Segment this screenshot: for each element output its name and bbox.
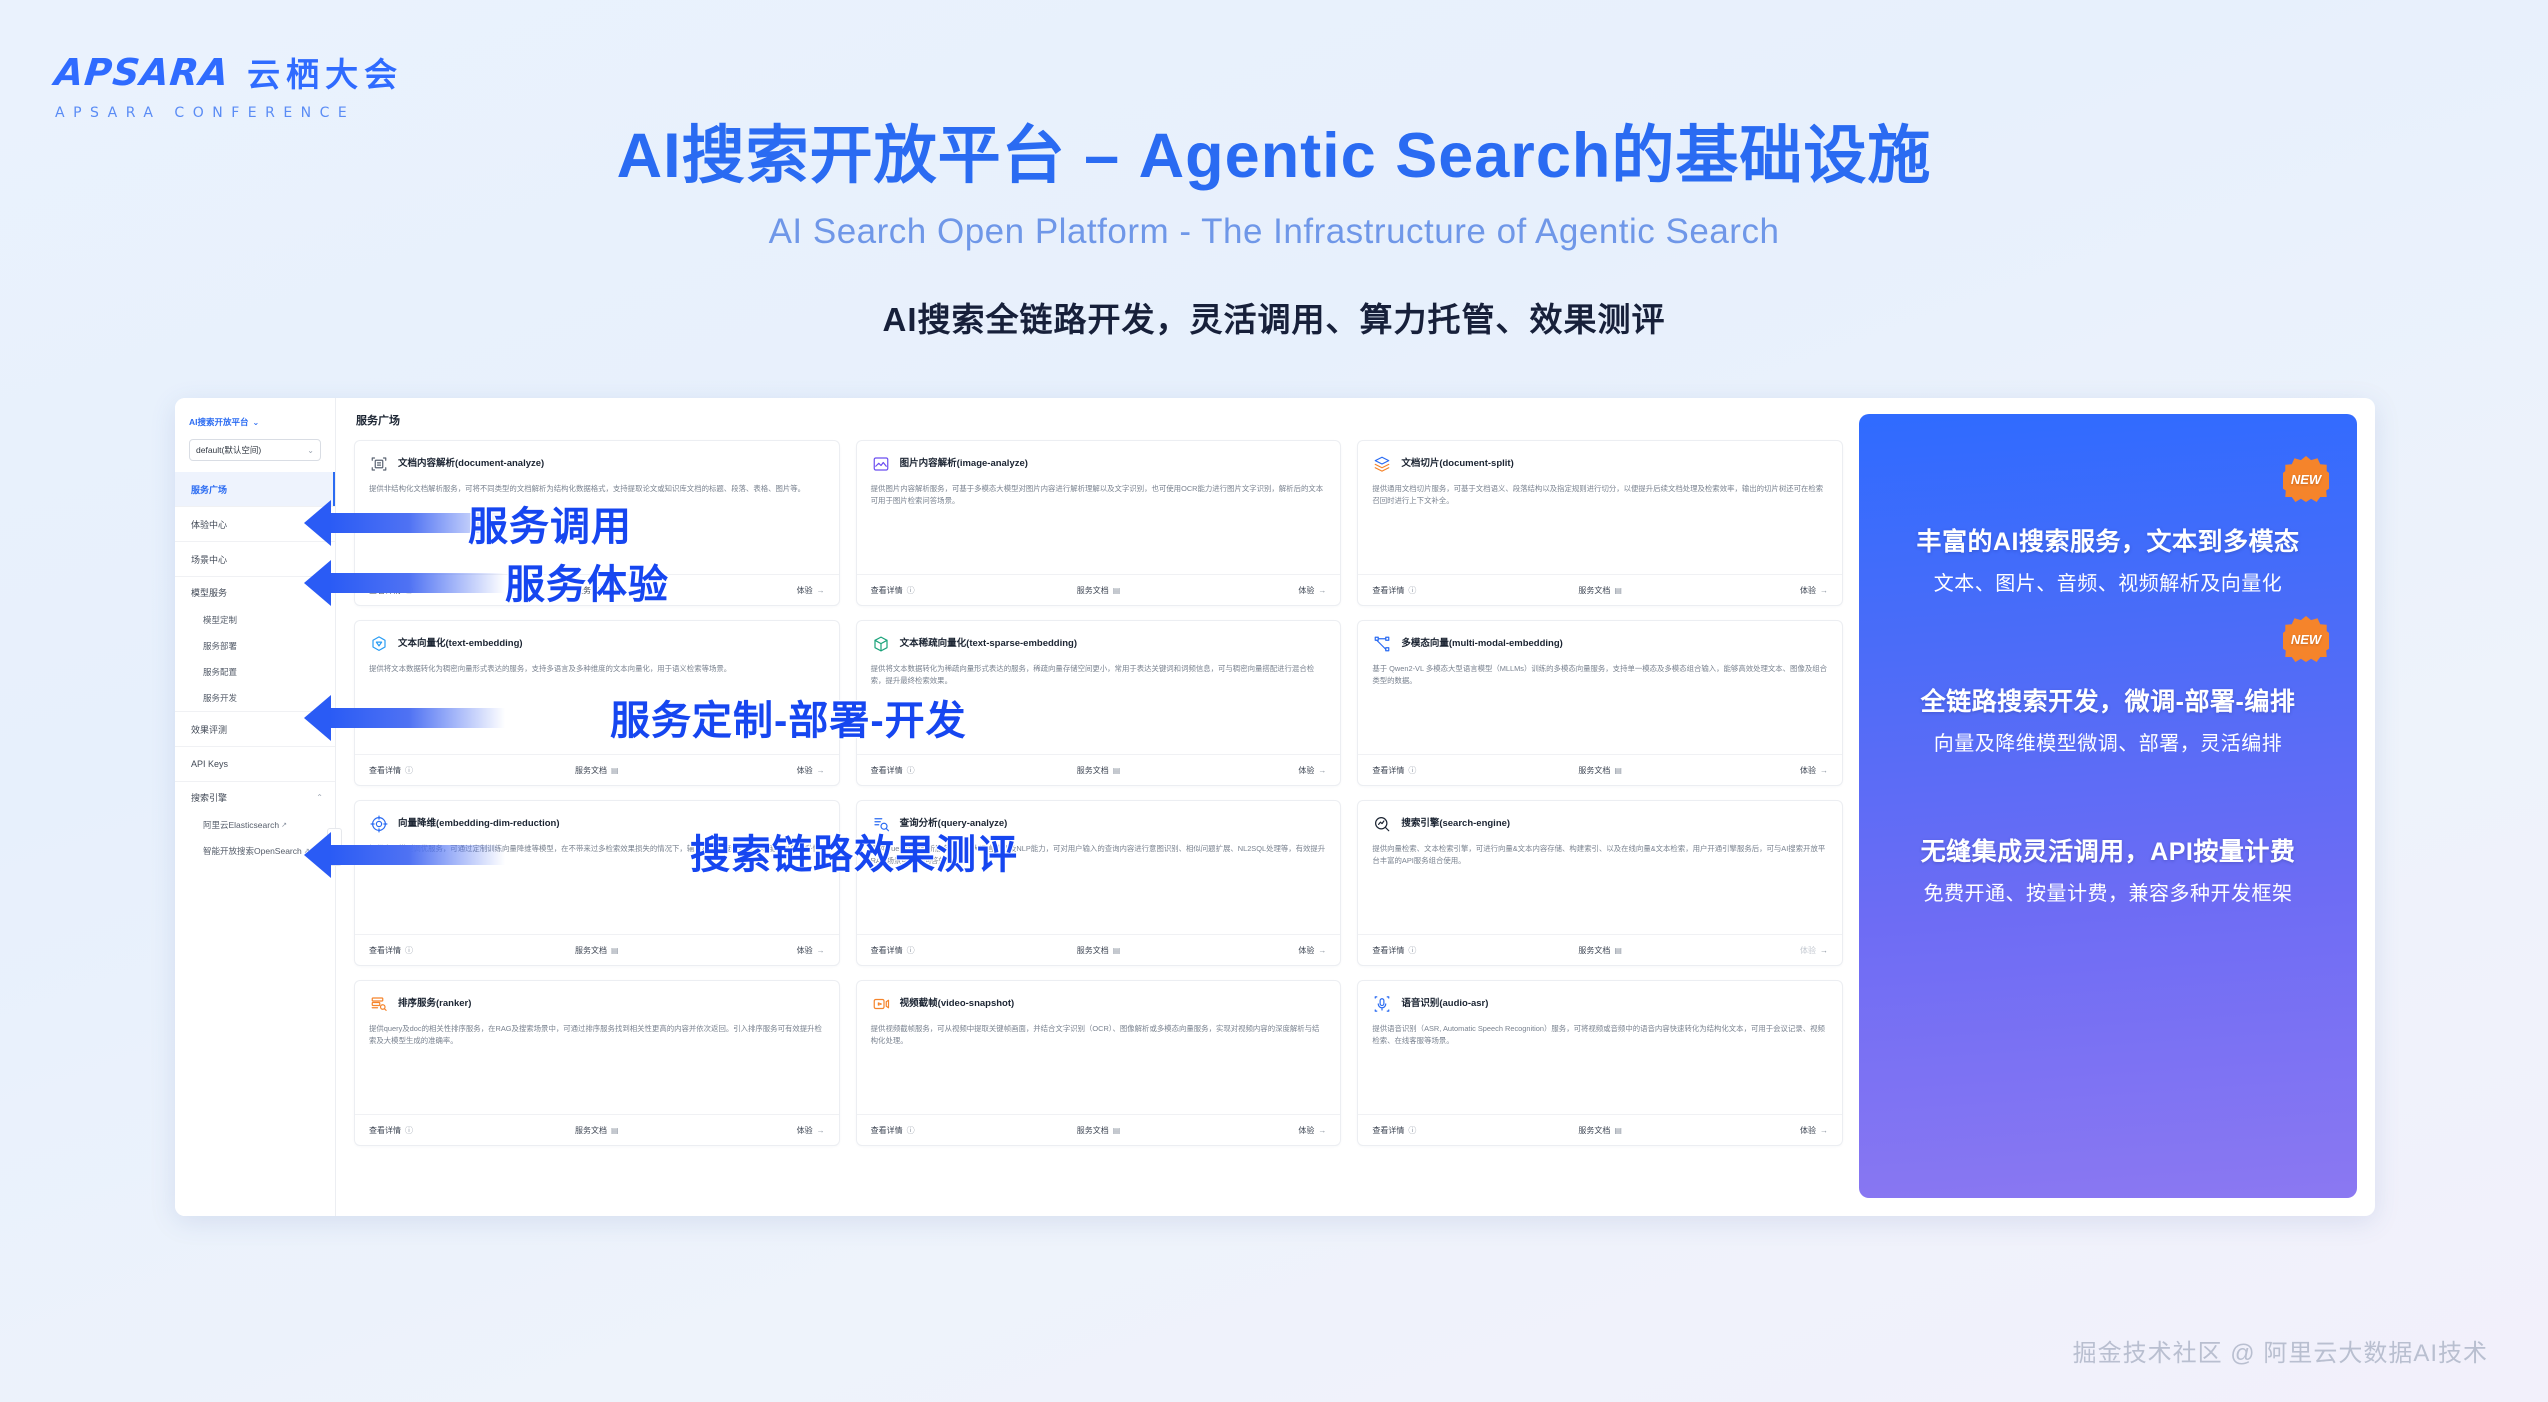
info-icon: ⓘ (907, 765, 915, 776)
arrow-right-icon: → (1820, 586, 1828, 595)
try-label: 体验 (1298, 765, 1314, 776)
service-card-title: 搜索引擎(search-engine) (1401, 818, 1510, 829)
layers-icon (1372, 454, 1392, 474)
service-card[interactable]: 多模态向量(multi-modal-embedding)基于 Qwen2-VL … (1357, 620, 1843, 786)
external-link-icon: ↗ (281, 821, 287, 829)
service-card-actions: 查看详情ⓘ服务文档▤体验→ (355, 1114, 839, 1145)
service-docs-label: 服务文档 (1578, 1125, 1610, 1136)
arrow-right-icon: → (1820, 1126, 1828, 1135)
service-card-title: 多模态向量(multi-modal-embedding) (1401, 638, 1563, 649)
service-card[interactable]: 视频截帧(video-snapshot)提供视频截帧服务，可从视频中提取关键帧画… (856, 980, 1342, 1146)
highlight-block-2: 全链路搜索开发，微调-部署-编排向量及降维模型微调、部署，灵活编排 (1859, 682, 2357, 756)
service-card-description: 提供视频截帧服务，可从视频中提取关键帧画面，并结合文字识别（OCR）、图像解析或… (857, 1014, 1341, 1114)
arrow-right-icon: → (1820, 946, 1828, 955)
service-docs-button[interactable]: 服务文档▤ (1023, 765, 1175, 776)
graph-nodes-icon (1372, 634, 1392, 654)
service-card-actions: 查看详情ⓘ服务文档▤体验→ (857, 574, 1341, 605)
view-details-button[interactable]: 查看详情ⓘ (1358, 585, 1524, 596)
sidebar-subitem-label: 服务部署 (203, 640, 237, 652)
service-card-title: 视频截帧(video-snapshot) (900, 998, 1015, 1009)
sidebar-group-10[interactable]: 搜索引擎⌃ (175, 781, 335, 812)
service-card-header: 视频截帧(video-snapshot) (857, 981, 1341, 1014)
image-icon (871, 454, 891, 474)
microphone-icon (1372, 994, 1392, 1014)
service-card[interactable]: 语音识别(audio-asr)提供语音识别（ASR, Automatic Spe… (1357, 980, 1843, 1146)
service-card-title: 图片内容解析(image-analyze) (900, 458, 1028, 469)
highlight-headline: 无缝集成灵活调用，API按量计费 (1859, 832, 2357, 868)
sidebar-item-9[interactable]: API Keys (175, 746, 335, 781)
try-label: 体验 (1298, 1125, 1314, 1136)
arrow-right-icon: → (817, 586, 825, 595)
service-card-description: 提供通用文档切片服务，可基于文档语义、段落结构以及指定规则进行切分，以便提升后续… (1358, 474, 1842, 574)
service-card-description: 提供语音识别（ASR, Automatic Speech Recognition… (1358, 1014, 1842, 1114)
try-button[interactable]: 体验→ (1676, 585, 1842, 596)
try-button[interactable]: 体验→ (673, 1125, 839, 1136)
service-docs-label: 服务文档 (1578, 945, 1610, 956)
info-icon: ⓘ (405, 1125, 413, 1136)
sidebar-item-label: 效果评测 (191, 723, 227, 736)
view-details-button[interactable]: 查看详情ⓘ (857, 945, 1023, 956)
try-button[interactable]: 体验→ (1174, 1125, 1340, 1136)
service-card-actions: 查看详情ⓘ服务文档▤体验→ (1358, 574, 1842, 605)
service-card-title: 向量降维(embedding-dim-reduction) (398, 818, 560, 829)
annotation-arrow-3 (330, 708, 505, 728)
annotation-label-4: 搜索链路效果测评 (690, 822, 1018, 880)
arrow-right-icon: → (817, 946, 825, 955)
service-docs-button[interactable]: 服务文档▤ (521, 765, 673, 776)
arrow-right-icon: → (1318, 586, 1326, 595)
try-button[interactable]: 体验→ (1174, 765, 1340, 776)
annotation-arrow-4 (330, 845, 505, 865)
view-details-button[interactable]: 查看详情ⓘ (857, 1125, 1023, 1136)
service-card[interactable]: 搜索引擎(search-engine)提供向量检索、文本检索引擎，可进行向量&文… (1357, 800, 1843, 966)
info-icon: ⓘ (405, 765, 413, 776)
service-card-header: 文档内容解析(document-analyze) (355, 441, 839, 474)
video-icon (871, 994, 891, 1014)
chevron-down-icon: ⌄ (307, 446, 314, 455)
sidebar-item-label: API Keys (191, 759, 228, 769)
service-docs-label: 服务文档 (575, 1125, 607, 1136)
highlight-block-3: 无缝集成灵活调用，API按量计费免费开通、按量计费，兼容多种开发框架 (1859, 832, 2357, 906)
service-card-title: 文本稀疏向量化(text-sparse-embedding) (900, 638, 1077, 649)
sidebar-subitem-label: 服务配置 (203, 666, 237, 678)
service-card-description: 提供向量检索、文本检索引擎，可进行向量&文本内容存储、构建索引、以及在线向量&文… (1358, 834, 1842, 934)
service-docs-label: 服务文档 (1077, 1125, 1109, 1136)
service-card-header: 多模态向量(multi-modal-embedding) (1358, 621, 1842, 654)
workspace-select-value: default(默认空间) (196, 444, 261, 456)
info-icon: ⓘ (405, 945, 413, 956)
view-details-label: 查看详情 (871, 585, 903, 596)
arrow-right-icon: → (1318, 1126, 1326, 1135)
view-details-button[interactable]: 查看详情ⓘ (355, 1125, 521, 1136)
highlight-headline: 丰富的AI搜索服务，文本到多模态 (1859, 522, 2357, 558)
new-badge: NEW (2283, 616, 2329, 662)
view-details-label: 查看详情 (1372, 765, 1404, 776)
annotation-label-3: 服务定制-部署-开发 (610, 688, 967, 746)
sidebar-item-label: 体验中心 (191, 518, 227, 531)
page-subtitle: AI Search Open Platform - The Infrastruc… (0, 212, 2548, 252)
document-icon: ▤ (1614, 946, 1622, 955)
service-card[interactable]: 文档切片(document-split)提供通用文档切片服务，可基于文档语义、段… (1357, 440, 1843, 606)
cube-icon (871, 634, 891, 654)
service-docs-button[interactable]: 服务文档▤ (521, 945, 673, 956)
service-card-actions: 查看详情ⓘ服务文档▤体验→ (1358, 754, 1842, 785)
view-details-button[interactable]: 查看详情ⓘ (355, 945, 521, 956)
service-card-description: 提供图片内容解析服务，可基于多模态大模型对图片内容进行解析理解以及文字识别，也可… (857, 474, 1341, 574)
logo-apsara-text: APSARA (53, 51, 232, 94)
service-card-title: 文档切片(document-split) (1401, 458, 1513, 469)
info-icon: ⓘ (1408, 765, 1416, 776)
service-docs-label: 服务文档 (1077, 945, 1109, 956)
new-badge: NEW (2283, 456, 2329, 502)
service-docs-button[interactable]: 服务文档▤ (1023, 945, 1175, 956)
sidebar-brand[interactable]: AI搜索开放平台 ⌄ (175, 398, 335, 428)
info-icon: ⓘ (907, 585, 915, 596)
view-details-button[interactable]: 查看详情ⓘ (857, 585, 1023, 596)
service-docs-label: 服务文档 (575, 765, 607, 776)
view-details-button[interactable]: 查看详情ⓘ (1358, 945, 1524, 956)
service-docs-button[interactable]: 服务文档▤ (1524, 1125, 1676, 1136)
info-icon: ⓘ (1408, 585, 1416, 596)
view-details-label: 查看详情 (1372, 1125, 1404, 1136)
info-icon: ⓘ (907, 945, 915, 956)
service-docs-label: 服务文档 (1077, 585, 1109, 596)
sidebar-subitem-label: 智能开放搜索OpenSearch (203, 845, 302, 857)
service-card-header: 排序服务(ranker) (355, 981, 839, 1014)
arrow-right-icon: → (1820, 766, 1828, 775)
try-button[interactable]: 体验→ (1174, 945, 1340, 956)
try-button: 体验→ (1676, 945, 1842, 956)
main-content: 服务广场 文档内容解析(document-analyze)提供非结构化文档解析服… (336, 398, 2375, 1216)
document-icon: ▤ (1614, 766, 1622, 775)
try-label: 体验 (1800, 585, 1816, 596)
document-icon: ▤ (611, 946, 619, 955)
service-card-actions: 查看详情ⓘ服务文档▤体验→ (857, 1114, 1341, 1145)
highlight-subline: 文本、图片、音频、视频解析及向量化 (1859, 567, 2357, 596)
service-card[interactable]: 图片内容解析(image-analyze)提供图片内容解析服务，可基于多模态大模… (856, 440, 1342, 606)
service-docs-button[interactable]: 服务文档▤ (521, 1125, 673, 1136)
view-details-button[interactable]: 查看详情ⓘ (1358, 1125, 1524, 1136)
highlights-panel: 丰富的AI搜索服务，文本到多模态文本、图片、音频、视频解析及向量化NEW全链路搜… (1859, 414, 2357, 1198)
hexagon-vector-icon (369, 634, 389, 654)
document-icon: ▤ (1113, 766, 1121, 775)
sidebar-item-label: 服务广场 (191, 483, 227, 496)
highlight-headline: 全链路搜索开发，微调-部署-编排 (1859, 682, 2357, 718)
arrow-right-icon: → (1318, 946, 1326, 955)
try-button[interactable]: 体验→ (673, 585, 839, 596)
document-icon: ▤ (1113, 946, 1121, 955)
chevron-down-icon: ⌄ (253, 418, 260, 427)
arrow-right-icon: → (817, 766, 825, 775)
document-icon: ▤ (1113, 1126, 1121, 1135)
sidebar-subitem-6[interactable]: 服务配置 (175, 659, 335, 685)
annotation-arrow-2 (330, 573, 505, 593)
info-icon: ⓘ (1408, 1125, 1416, 1136)
service-card-header: 文本稀疏向量化(text-sparse-embedding) (857, 621, 1341, 654)
document-icon: ▤ (611, 766, 619, 775)
sidebar-subitem-label: 服务开发 (203, 692, 237, 704)
highlight-block-1: 丰富的AI搜索服务，文本到多模态文本、图片、音频、视频解析及向量化 (1859, 522, 2357, 596)
try-label: 体验 (797, 765, 813, 776)
service-card-header: 图片内容解析(image-analyze) (857, 441, 1341, 474)
try-label: 体验 (1298, 945, 1314, 956)
workspace-select[interactable]: default(默认空间) ⌄ (189, 439, 321, 461)
view-details-label: 查看详情 (369, 945, 401, 956)
sidebar-item-label: 场景中心 (191, 553, 227, 566)
watermark: 掘金技术社区 @ 阿里云大数据AI技术 (2073, 1333, 2488, 1368)
page-description: AI搜索全链路开发，灵活调用、算力托管、效果测评 (0, 293, 2548, 341)
try-label: 体验 (1298, 585, 1314, 596)
try-button[interactable]: 体验→ (1676, 765, 1842, 776)
try-button[interactable]: 体验→ (1676, 1125, 1842, 1136)
sidebar-subitem-label: 模型定制 (203, 614, 237, 626)
service-docs-button[interactable]: 服务文档▤ (1524, 945, 1676, 956)
service-card-header: 语音识别(audio-asr) (1358, 981, 1842, 1014)
view-details-label: 查看详情 (1372, 585, 1404, 596)
service-card-title: 语音识别(audio-asr) (1401, 998, 1488, 1009)
try-button[interactable]: 体验→ (673, 945, 839, 956)
view-details-button[interactable]: 查看详情ⓘ (857, 765, 1023, 776)
view-details-button[interactable]: 查看详情ⓘ (1358, 765, 1524, 776)
info-icon: ⓘ (1408, 945, 1416, 956)
content-title: 服务广场 (356, 412, 1843, 428)
service-card-description: 提供query及doc的相关性排序服务，在RAG及搜索场景中，可通过排序服务找到… (355, 1014, 839, 1114)
sidebar-brand-label: AI搜索开放平台 (189, 416, 249, 428)
document-icon: ▤ (611, 1126, 619, 1135)
annotation-label-2: 服务体验 (505, 552, 669, 610)
service-docs-button[interactable]: 服务文档▤ (1023, 1125, 1175, 1136)
target-icon (369, 814, 389, 834)
service-docs-button[interactable]: 服务文档▤ (1524, 585, 1676, 596)
service-card-title: 文本向量化(text-embedding) (398, 638, 523, 649)
highlight-subline: 免费开通、按量计费，兼容多种开发框架 (1859, 877, 2357, 906)
annotation-label-1: 服务调用 (468, 494, 632, 552)
document-icon: ▤ (1614, 586, 1622, 595)
page-title: AI搜索开放平台 – Agentic Search的基础设施 (0, 105, 2548, 196)
service-docs-label: 服务文档 (575, 945, 607, 956)
try-label: 体验 (797, 1125, 813, 1136)
sidebar-group-label: 模型服务 (191, 586, 227, 599)
service-card-actions: 查看详情ⓘ服务文档▤体验→ (355, 934, 839, 965)
service-card-actions: 查看详情ⓘ服务文档▤体验→ (355, 754, 839, 785)
view-details-label: 查看详情 (871, 945, 903, 956)
view-details-button[interactable]: 查看详情ⓘ (355, 765, 521, 776)
view-details-label: 查看详情 (1372, 945, 1404, 956)
try-label: 体验 (797, 585, 813, 596)
service-card-title: 文档内容解析(document-analyze) (398, 458, 544, 469)
sidebar-group-label: 搜索引擎 (191, 791, 227, 804)
sidebar-subitem-5[interactable]: 服务部署 (175, 633, 335, 659)
view-details-label: 查看详情 (871, 765, 903, 776)
service-docs-button[interactable]: 服务文档▤ (1524, 765, 1676, 776)
arrow-right-icon: → (1318, 766, 1326, 775)
try-button[interactable]: 体验→ (673, 765, 839, 776)
highlight-subline: 向量及降维模型微调、部署，灵活编排 (1859, 727, 2357, 756)
service-docs-label: 服务文档 (1578, 585, 1610, 596)
document-icon: ▤ (1113, 586, 1121, 595)
document-scan-icon (369, 454, 389, 474)
view-details-label: 查看详情 (369, 765, 401, 776)
document-icon: ▤ (1614, 1126, 1622, 1135)
chevron-up-icon: ⌃ (316, 793, 323, 802)
service-card-header: 文档切片(document-split) (1358, 441, 1842, 474)
service-card-actions: 查看详情ⓘ服务文档▤体验→ (1358, 934, 1842, 965)
try-label: 体验 (1800, 945, 1816, 956)
try-label: 体验 (1800, 765, 1816, 776)
view-details-label: 查看详情 (369, 1125, 401, 1136)
try-label: 体验 (797, 945, 813, 956)
service-docs-label: 服务文档 (1077, 765, 1109, 776)
try-label: 体验 (1800, 1125, 1816, 1136)
service-card-header: 文本向量化(text-embedding) (355, 621, 839, 654)
service-card-description: 基于 Qwen2-VL 多模态大型语言模型（MLLMs）训练的多模态向量服务，支… (1358, 654, 1842, 754)
service-card-actions: 查看详情ⓘ服务文档▤体验→ (857, 934, 1341, 965)
try-button[interactable]: 体验→ (1174, 585, 1340, 596)
info-icon: ⓘ (907, 1125, 915, 1136)
service-docs-label: 服务文档 (1578, 765, 1610, 776)
service-docs-button[interactable]: 服务文档▤ (1023, 585, 1175, 596)
sidebar-subitem-4[interactable]: 模型定制 (175, 607, 335, 633)
service-card[interactable]: 排序服务(ranker)提供query及doc的相关性排序服务，在RAG及搜索场… (354, 980, 840, 1146)
sidebar-subitem-label: 阿里云Elasticsearch (203, 819, 279, 831)
search-engine-icon (1372, 814, 1392, 834)
service-card-title: 排序服务(ranker) (398, 998, 471, 1009)
ranker-icon (369, 994, 389, 1014)
service-card-actions: 查看详情ⓘ服务文档▤体验→ (1358, 1114, 1842, 1145)
arrow-right-icon: → (817, 1126, 825, 1135)
view-details-label: 查看详情 (871, 1125, 903, 1136)
service-card-header: 搜索引擎(search-engine) (1358, 801, 1842, 834)
service-card-actions: 查看详情ⓘ服务文档▤体验→ (857, 754, 1341, 785)
logo-chinese-text: 云栖大会 (247, 48, 403, 96)
